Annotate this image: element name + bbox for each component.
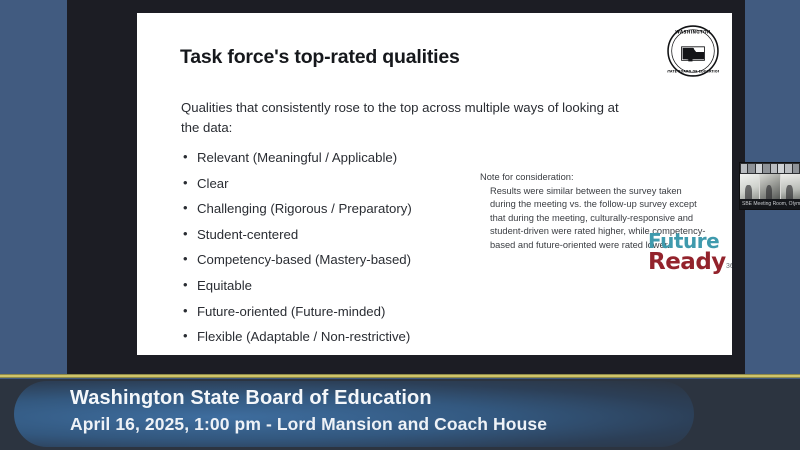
list-item: Student-centered [181,227,526,243]
broadcast-stage: WASHINGTON STATE BOARD OF EDUCATION Task… [0,0,800,450]
list-item: Relevant (Meaningful / Applicable) [181,150,526,166]
presentation-slide: WASHINGTON STATE BOARD OF EDUCATION Task… [137,13,732,355]
participant-thumbnail [771,164,777,173]
list-item: Challenging (Rigorous / Preparatory) [181,201,526,217]
participant-filmstrip[interactable] [740,163,800,174]
washington-state-board-of-education-seal-icon: WASHINGTON STATE BOARD OF EDUCATION [667,25,719,77]
participant-thumbnail [756,164,762,173]
participant-thumbnail [748,164,754,173]
video-room-label: SBE Meeting Room, Olym... [740,199,800,209]
qualities-list: Relevant (Meaningful / Applicable) Clear… [181,150,526,355]
list-item: Competency-based (Mastery-based) [181,252,526,268]
video-tiles [740,174,800,201]
lower-third-banner: Washington State Board of Education Apri… [0,379,800,450]
video-tile [740,174,759,201]
slide-subtitle: Qualities that consistently rose to the … [181,98,621,138]
list-item: Clear [181,176,526,192]
participant-thumbnail [763,164,769,173]
video-tile [760,174,779,201]
list-item: Future-oriented (Future-minded) [181,304,526,320]
participant-thumbnail [793,164,799,173]
video-frame: WASHINGTON STATE BOARD OF EDUCATION Task… [67,0,745,374]
banner-text: Washington State Board of Education Apri… [70,384,660,437]
slide-page-number: 36 [726,263,732,270]
participant-thumbnail [778,164,784,173]
list-item: Flexible (Adaptable / Non-restrictive) [181,329,526,345]
svg-text:STATE BOARD OF EDUCATION: STATE BOARD OF EDUCATION [667,69,719,73]
svg-text:WASHINGTON: WASHINGTON [675,29,711,34]
slide-title: Task force's top-rated qualities [180,46,460,69]
future-ready-logo: Future Ready 36 [648,232,726,274]
banner-subtitle: April 16, 2025, 1:00 pm - Lord Mansion a… [70,412,660,437]
video-conference-inset[interactable]: SBE Meeting Room, Olym... [739,162,800,210]
future-ready-word-ready: Ready [648,251,726,274]
banner-title: Washington State Board of Education [70,384,660,412]
note-heading: Note for consideration: [480,171,710,185]
participant-thumbnail [741,164,747,173]
gold-divider [0,374,800,378]
participant-thumbnail [785,164,791,173]
video-tile [781,174,800,201]
list-item: Equitable [181,278,526,294]
